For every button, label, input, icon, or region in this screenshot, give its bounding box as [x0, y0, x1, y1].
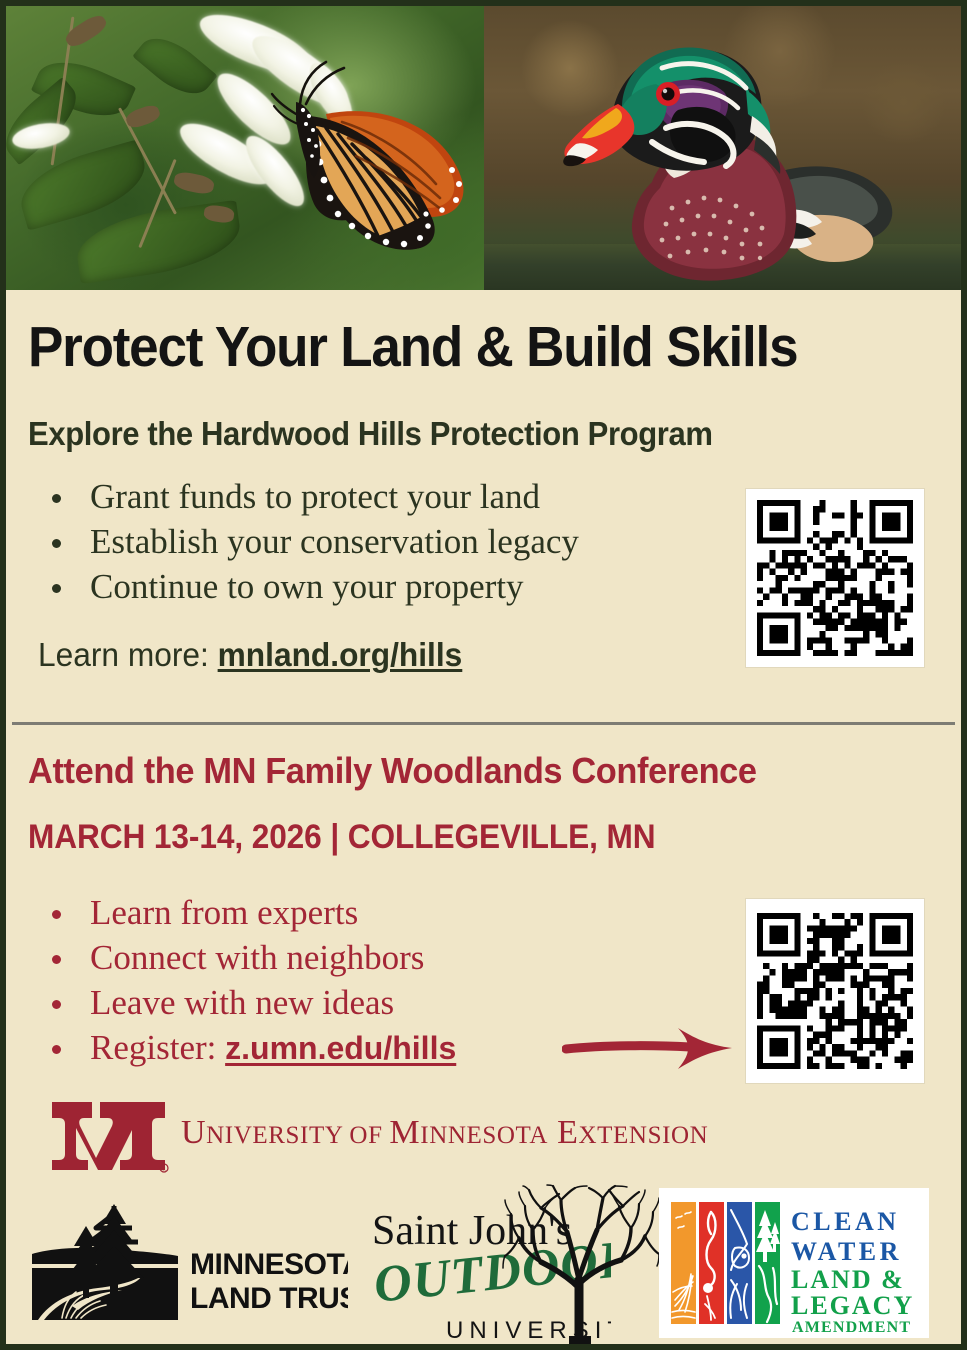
monarch-butterfly-photo: [6, 6, 484, 290]
cw-line5: AMENDMENT: [792, 1319, 911, 1336]
wordmark-part: E: [548, 1114, 578, 1151]
qr-code-mnland-image: [757, 500, 913, 656]
minnesota-land-trust-logo-icon: MINNESOTA LAND TRUST: [28, 1194, 348, 1334]
wordmark-part: OF: [343, 1122, 390, 1149]
section-divider: [12, 722, 955, 725]
wordmark-part: INNESOTA: [420, 1122, 548, 1149]
learn-more-line: Learn more: mnland.org/hills: [38, 636, 462, 674]
cw-line4: LEGACY: [791, 1291, 914, 1320]
photo-band: [6, 6, 961, 290]
university-of-minnesota-m-logo-icon: R: [46, 1096, 171, 1176]
page-title: Protect Your Land & Build Skills: [28, 314, 797, 380]
conference-heading: Attend the MN Family Woodlands Conferenc…: [28, 750, 757, 792]
register-url-link[interactable]: z.umn.edu/hills: [225, 1030, 456, 1066]
list-item-text: Leave with new ideas: [90, 983, 394, 1022]
list-item: Establish your conservation legacy: [44, 519, 734, 564]
list-item-text: Register:: [90, 1028, 216, 1067]
arrow-to-qr-code-icon: [562, 1026, 740, 1070]
university-of-minnesota-extension-wordmark: UNIVERSITY OF MINNESOTA EXTENSION: [181, 1114, 708, 1152]
mlt-line1: MINNESOTA: [190, 1248, 348, 1281]
wood-duck-icon: [556, 32, 906, 290]
clean-water-land-legacy-amendment-logo-icon: CLEAN WATER LAND & LEGACY AMENDMENT: [659, 1188, 929, 1338]
mnland-url-link[interactable]: mnland.org/hills: [218, 636, 463, 673]
list-item-text: Connect with neighbors: [90, 938, 424, 977]
list-item: Continue to own your property: [44, 564, 734, 609]
wordmark-part: M: [389, 1114, 420, 1151]
cw-line3: LAND &: [791, 1265, 905, 1294]
list-item: Grant funds to protect your land: [44, 474, 734, 519]
wordmark-part: XTENSION: [579, 1122, 709, 1149]
qr-code-register-image: [757, 910, 913, 1072]
poster: Protect Your Land & Build Skills Explore…: [0, 0, 967, 1350]
cw-line2: WATER: [791, 1237, 902, 1266]
list-item-text: Learn from experts: [90, 893, 358, 932]
list-item: Leave with new ideas: [44, 980, 734, 1025]
program-subheading: Explore the Hardwood Hills Protection Pr…: [28, 415, 713, 453]
monarch-butterfly-icon: [256, 58, 484, 258]
mlt-line2: LAND TRUST: [190, 1282, 348, 1315]
list-item: Connect with neighbors: [44, 935, 734, 980]
learn-more-label: Learn more:: [38, 636, 209, 673]
wordmark-part: NIVERSITY: [206, 1122, 342, 1149]
list-item: Learn from experts: [44, 890, 734, 935]
qr-code-register[interactable]: [746, 899, 924, 1083]
qr-code-mnland[interactable]: [746, 489, 924, 667]
land-benefits-list: Grant funds to protect your land Establi…: [44, 474, 734, 609]
wordmark-part: U: [181, 1114, 206, 1151]
land-protection-section: Protect Your Land & Build Skills Explore…: [6, 290, 961, 437]
conference-date-location: MARCH 13-14, 2026 | COLLEGEVILLE, MN: [28, 818, 656, 857]
cw-line1: CLEAN: [791, 1207, 900, 1236]
bare-tree-icon: [501, 1184, 661, 1349]
wood-duck-photo: [484, 6, 961, 290]
